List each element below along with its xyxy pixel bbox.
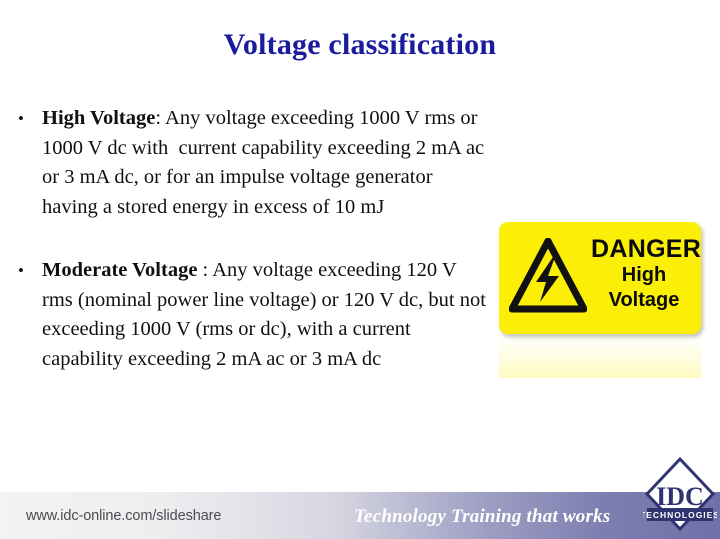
list-item: • High Voltage: Any voltage exceeding 10… [14,104,492,222]
bullet-list: • High Voltage: Any voltage exceeding 10… [14,104,492,408]
idc-technologies-logo: IDC TECHNOLOGIES [643,455,717,533]
list-item-lead: High Voltage [42,107,155,129]
list-item-text: Moderate Voltage : Any voltage exceeding… [42,256,492,374]
slide-canvas: Voltage classification • High Voltage: A… [0,0,720,539]
high-voltage-triangle-icon [509,238,587,314]
danger-sign-text: DANGER High Voltage [591,236,697,313]
footer-website-url[interactable]: www.idc-online.com/slideshare [26,508,221,524]
page-title: Voltage classification [0,28,720,62]
reflection-plate [499,336,701,378]
idc-logo-subbrand: TECHNOLOGIES [643,510,717,520]
list-item-text: High Voltage: Any voltage exceeding 1000… [42,104,492,222]
list-item: • Moderate Voltage : Any voltage exceedi… [14,256,492,374]
idc-logo-brand: IDC [656,482,704,511]
danger-label: DANGER [591,236,697,263]
danger-sign-reflection: Voltage [499,336,701,378]
bullet-marker-icon: • [14,256,42,286]
footer-tagline: Technology Training that works [354,506,610,528]
danger-high-label: High [591,263,697,288]
danger-sign-image: DANGER High Voltage [499,222,701,334]
danger-sign-plate: DANGER High Voltage [499,222,701,334]
list-item-lead: Moderate Voltage [42,259,197,281]
bullet-marker-icon: • [14,104,42,134]
danger-voltage-label: Voltage [591,288,697,313]
